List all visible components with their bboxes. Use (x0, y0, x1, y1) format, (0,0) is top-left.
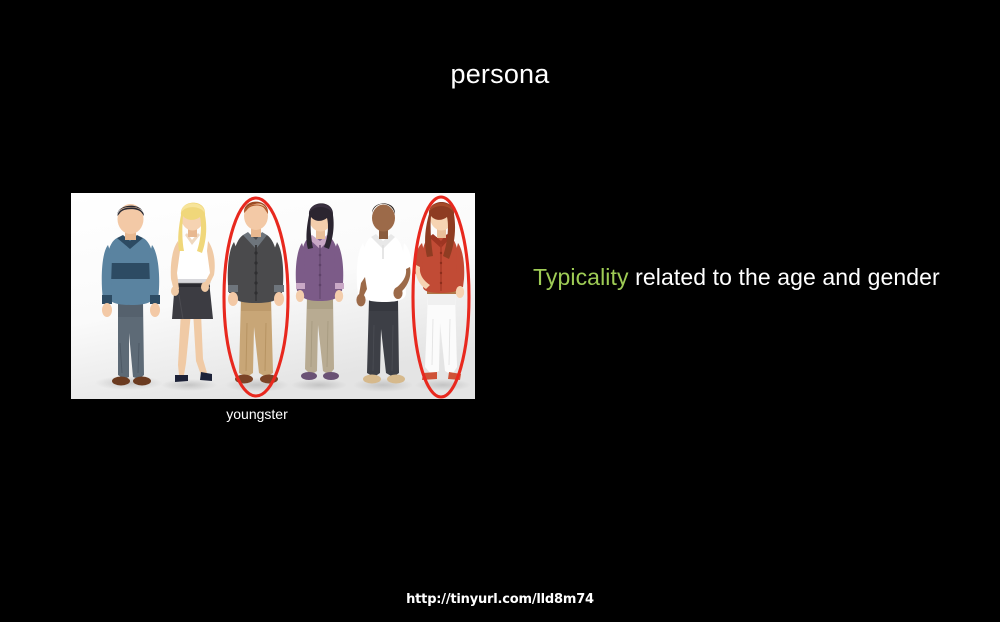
page-title: persona (0, 60, 1000, 90)
keyword-typicality: Typicality (533, 264, 629, 290)
figure-container (71, 193, 475, 399)
body-statement: Typicality related to the age and gender (533, 264, 940, 291)
people-lineup-svg (71, 193, 475, 407)
footer-url[interactable]: http://tinyurl.com/lld8m74 (0, 592, 1000, 607)
people-lineup-image (71, 193, 475, 399)
slide-canvas: persona (0, 0, 1000, 622)
figure-caption-youngster: youngster (71, 406, 443, 422)
body-statement-rest: related to the age and gender (629, 264, 940, 290)
